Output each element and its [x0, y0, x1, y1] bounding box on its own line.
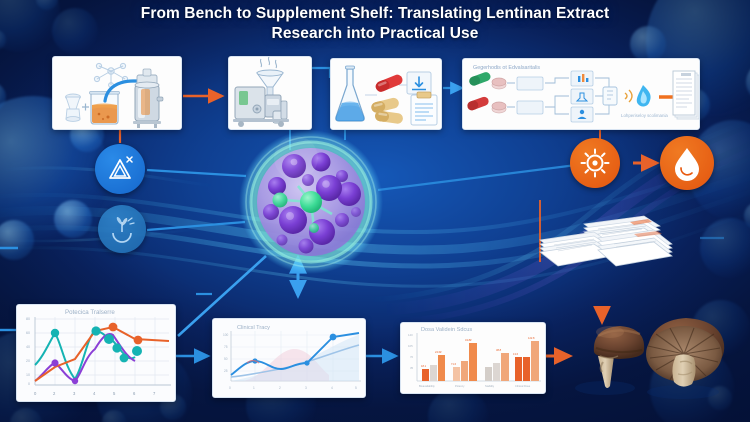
svg-text:70: 70: [410, 355, 414, 359]
page-title-line2: Research into Practical Use: [0, 24, 750, 44]
droplet-badge[interactable]: [660, 136, 714, 190]
svg-text:40: 40: [26, 345, 30, 349]
svg-text:38.8: 38.8: [496, 348, 502, 352]
svg-text:1: 1: [253, 386, 255, 390]
svg-text:4: 4: [331, 386, 333, 390]
chart-title: Potecica Tralserre: [65, 309, 115, 316]
trend-chart-svg: 10075 5025 01 23 45 Clinicsl Tracy: [213, 319, 366, 398]
sprout-leaf-icon: [106, 213, 138, 245]
lab-extraction-panel[interactable]: [52, 56, 182, 130]
svg-text:43.8#: 43.8#: [465, 338, 472, 342]
virus-target-badge[interactable]: [570, 138, 620, 188]
svg-text:0: 0: [229, 386, 231, 390]
clinical-flow-illustration: Gegerhodis ot Edvalsaritalis Lohperiselo…: [463, 59, 700, 130]
lentinan-cell-graphic[interactable]: [236, 128, 386, 276]
svg-text:Stability: Stability: [485, 384, 495, 388]
clipboard-icon: [411, 92, 437, 125]
svg-text:3: 3: [305, 386, 307, 390]
paper-stacks-illustration: [532, 204, 682, 276]
svg-text:13.6: 13.6: [513, 352, 519, 356]
infographic-canvas: From Bench to Supplement Shelf: Translat…: [0, 0, 750, 422]
clinical-flow-panel[interactable]: Gegerhodis ot Edvalsaritalis Lohperiselo…: [462, 58, 700, 130]
chart-title: Dosa Validein Sdcus: [421, 327, 472, 333]
processing-machine-illustration: [229, 57, 312, 130]
clinical-trend-chart[interactable]: 10075 5025 01 23 45 Clinicsl Tracy: [212, 318, 366, 398]
svg-text:80: 80: [26, 317, 30, 321]
cell-illustration: [236, 128, 386, 276]
formulation-illustration: [331, 59, 442, 130]
bar-chart-svg: 140105 7035 18.1 24.6# 71.6 43.8#: [401, 323, 546, 394]
svg-text:50: 50: [224, 357, 228, 361]
page-title: From Bench to Supplement Shelf: Translat…: [0, 4, 750, 44]
svg-text:25: 25: [224, 369, 228, 373]
shiitake-mushroom-photo[interactable]: [548, 300, 748, 420]
svg-text:75: 75: [224, 345, 228, 349]
flow-panel-subcaption: Lohperiseloy scolimania: [621, 113, 668, 118]
connector-center-to-virus-badge: [378, 162, 600, 190]
svg-text:140: 140: [408, 333, 413, 337]
svg-text:105: 105: [408, 344, 413, 348]
bioactivity-chart-svg: 8060 4020 100 02 34 56 7: [17, 305, 176, 402]
svg-text:35: 35: [410, 366, 414, 370]
connector-filter-badge-to-center: [147, 170, 246, 176]
svg-text:20: 20: [26, 359, 30, 363]
document-stack-icon: [673, 71, 699, 119]
connector-plant-badge-to-center: [147, 222, 245, 230]
svg-text:2: 2: [279, 386, 281, 390]
svg-text:71.6: 71.6: [451, 362, 457, 366]
mushroom-upright: [575, 326, 644, 395]
svg-text:10: 10: [26, 373, 30, 377]
svg-text:Bioavailability: Bioavailability: [419, 384, 435, 388]
processing-machine-panel[interactable]: [228, 56, 312, 130]
page-title-line1: From Bench to Supplement Shelf: Translat…: [141, 5, 609, 22]
plant-extract-badge[interactable]: [98, 205, 146, 253]
triangle-filter-icon: [104, 153, 136, 185]
mushroom-illustration: [548, 300, 748, 420]
flow-panel-caption: Gegerhodis ot Edvalsaritalis: [473, 65, 540, 71]
bioactivity-line-chart[interactable]: 8060 4020 100 02 34 56 7: [16, 304, 176, 402]
water-droplet-icon: [672, 144, 702, 182]
svg-text:Potency: Potency: [455, 384, 465, 388]
svg-text:Clinical Dose: Clinical Dose: [515, 384, 531, 388]
svg-text:60: 60: [26, 331, 30, 335]
svg-text:0: 0: [28, 382, 30, 386]
chart-title: Clinicsl Tracy: [237, 325, 270, 331]
formulation-panel[interactable]: [330, 58, 442, 130]
svg-text:18.1: 18.1: [421, 364, 427, 368]
sun-virus-icon: [578, 146, 612, 180]
svg-text:24.6#: 24.6#: [435, 350, 442, 354]
mushroom-gills: [646, 318, 724, 399]
svg-text:122.8: 122.8: [528, 336, 535, 340]
svg-text:100: 100: [223, 333, 229, 337]
lab-extraction-illustration: [53, 57, 182, 130]
download-document-icon: [407, 72, 431, 94]
research-paper-stacks[interactable]: [532, 204, 682, 276]
svg-text:5: 5: [355, 386, 357, 390]
dose-comparison-bar-chart[interactable]: 140105 7035 18.1 24.6# 71.6 43.8#: [400, 322, 546, 394]
filter-funnel-badge[interactable]: [95, 144, 145, 194]
